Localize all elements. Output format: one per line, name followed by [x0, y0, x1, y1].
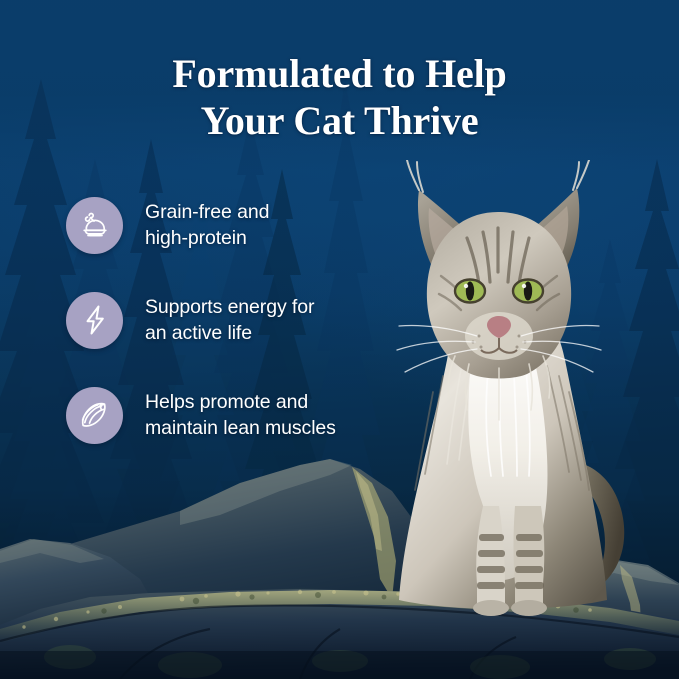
headline-line-2: Your Cat Thrive — [0, 99, 679, 143]
lightning-bolt-icon — [66, 292, 123, 349]
promo-banner: Formulated to Help Your Cat Thrive — [0, 0, 679, 679]
maine-coon-cat-photo — [355, 160, 655, 630]
benefit-item-energy: Supports energy for an active life — [66, 287, 376, 353]
benefit-label-energy: Supports energy for an active life — [145, 294, 314, 346]
benefit-item-grain-free: Grain-free and high-protein — [66, 192, 376, 258]
benefit-label-lean-muscle: Helps promote and maintain lean muscles — [145, 389, 336, 441]
benefit-list: Grain-free and high-protein Supports ene… — [66, 192, 376, 448]
page-title: Formulated to Help Your Cat Thrive — [0, 52, 679, 143]
benefit-item-lean-muscle: Helps promote and maintain lean muscles — [66, 382, 376, 448]
benefit-label-grain-free: Grain-free and high-protein — [145, 199, 269, 251]
headline-line-1: Formulated to Help — [0, 52, 679, 96]
muscle-fiber-icon — [66, 387, 123, 444]
roast-chicken-icon — [66, 197, 123, 254]
